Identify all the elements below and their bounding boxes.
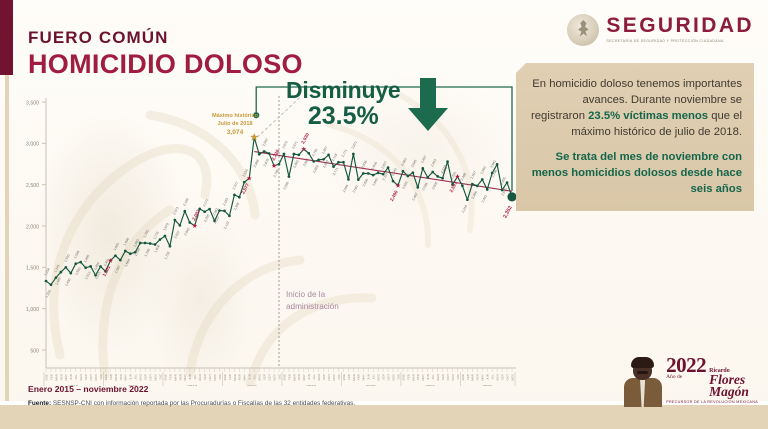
info-highlight-percent: 23.5% víctimas menos bbox=[588, 110, 708, 122]
svg-text:JUN: JUN bbox=[248, 374, 252, 380]
svg-text:2,180: 2,180 bbox=[182, 197, 189, 206]
svg-text:2,205: 2,205 bbox=[203, 214, 210, 223]
ricardo-flores-magon-portrait-icon bbox=[623, 357, 663, 407]
svg-text:1,879: 1,879 bbox=[162, 222, 169, 231]
svg-text:1,641: 1,641 bbox=[113, 242, 120, 251]
svg-text:1,664: 1,664 bbox=[124, 258, 131, 267]
svg-text:3,500: 3,500 bbox=[26, 100, 39, 106]
svg-text:2,507: 2,507 bbox=[470, 170, 477, 179]
svg-text:JUN: JUN bbox=[307, 374, 311, 380]
svg-text:2017: 2017 bbox=[187, 384, 197, 386]
svg-text:FEB: FEB bbox=[287, 374, 291, 380]
svg-text:ABR: ABR bbox=[119, 373, 123, 380]
svg-text:ABR: ABR bbox=[357, 373, 361, 380]
svg-text:FEB: FEB bbox=[168, 374, 172, 380]
svg-text:2,930: 2,930 bbox=[300, 132, 310, 145]
svg-text:DIC: DIC bbox=[158, 373, 162, 379]
svg-text:1,794: 1,794 bbox=[134, 247, 141, 256]
data-labels: 1,3341,2901,3751,4421,5001,4301,5441,563… bbox=[43, 132, 513, 299]
svg-text:2,486: 2,486 bbox=[460, 172, 467, 181]
flores-magon-logo: 2022 Año de Ricardo Flores Magón PRECURS… bbox=[623, 351, 758, 407]
info-paragraph-1: En homicidio doloso tenemos importantes … bbox=[528, 76, 742, 140]
svg-text:1,500: 1,500 bbox=[63, 253, 70, 262]
svg-text:JUN: JUN bbox=[367, 374, 371, 380]
left-accent-bar-maroon bbox=[0, 0, 13, 75]
svg-text:NOV: NOV bbox=[451, 373, 455, 381]
svg-text:DIC: DIC bbox=[277, 373, 281, 379]
svg-text:AGO: AGO bbox=[436, 373, 440, 380]
svg-text:2,718: 2,718 bbox=[331, 153, 338, 162]
svg-text:DIC: DIC bbox=[99, 373, 103, 379]
max-historic-annotation: Máximo histórico Julio de 2018 3,074 bbox=[212, 112, 258, 138]
svg-text:MAR: MAR bbox=[173, 373, 177, 381]
svg-text:ENE: ENE bbox=[104, 374, 108, 380]
svg-text:NOV: NOV bbox=[272, 373, 276, 381]
svg-text:SEP: SEP bbox=[322, 374, 326, 380]
svg-text:AGO: AGO bbox=[377, 373, 381, 380]
svg-text:500: 500 bbox=[30, 348, 39, 354]
svg-text:2,377: 2,377 bbox=[232, 181, 239, 190]
svg-text:2,543: 2,543 bbox=[390, 167, 397, 176]
svg-text:2,467: 2,467 bbox=[411, 192, 418, 201]
svg-text:2,530: 2,530 bbox=[242, 168, 249, 177]
svg-text:ENE: ENE bbox=[342, 374, 346, 380]
svg-text:2,807: 2,807 bbox=[321, 145, 328, 154]
svg-text:OCT: OCT bbox=[208, 374, 212, 381]
svg-text:2,500: 2,500 bbox=[26, 183, 39, 189]
svg-text:MAR: MAR bbox=[233, 373, 237, 381]
seguridad-logo: SEGURIDAD SECRETARÍA DE SEGURIDAD Y PROT… bbox=[567, 14, 754, 46]
svg-text:1,495: 1,495 bbox=[83, 254, 90, 263]
admin-start-line-2: administración bbox=[286, 301, 339, 313]
svg-text:2,577: 2,577 bbox=[240, 182, 250, 195]
chart-container: 5001,0001,5002,0002,5003,0003,500 ENEFEB… bbox=[0, 86, 530, 386]
svg-text:2,860: 2,860 bbox=[322, 159, 329, 168]
svg-text:NOV: NOV bbox=[94, 373, 98, 381]
svg-text:JUL: JUL bbox=[193, 374, 197, 380]
svg-text:2,627: 2,627 bbox=[380, 160, 387, 169]
svg-text:AGO: AGO bbox=[139, 373, 143, 380]
svg-text:ENE: ENE bbox=[223, 374, 227, 380]
svg-text:FEB: FEB bbox=[466, 374, 470, 380]
svg-text:1,500: 1,500 bbox=[26, 266, 39, 272]
svg-text:JUL: JUL bbox=[372, 374, 376, 380]
svg-text:JUN: JUN bbox=[129, 374, 133, 380]
svg-text:2,872: 2,872 bbox=[281, 140, 288, 149]
svg-text:AGO: AGO bbox=[198, 373, 202, 380]
page-title-block: FUERO COMÚN HOMICIDIO DOLOSO bbox=[28, 28, 303, 79]
svg-text:2,564: 2,564 bbox=[342, 184, 349, 193]
svg-text:MAY: MAY bbox=[64, 374, 68, 380]
svg-text:2,871: 2,871 bbox=[291, 140, 298, 149]
svg-text:NOV: NOV bbox=[153, 373, 157, 381]
svg-text:DIC: DIC bbox=[456, 373, 460, 379]
svg-text:SEP: SEP bbox=[144, 374, 148, 380]
svg-text:2,042: 2,042 bbox=[183, 227, 190, 236]
svg-text:ABR: ABR bbox=[178, 373, 182, 380]
svg-text:JUL: JUL bbox=[431, 374, 435, 380]
svg-text:3,000: 3,000 bbox=[26, 142, 39, 148]
svg-text:JUN: JUN bbox=[426, 374, 430, 380]
svg-text:1,788: 1,788 bbox=[144, 248, 151, 257]
svg-text:2,636: 2,636 bbox=[361, 160, 368, 169]
svg-text:1,334: 1,334 bbox=[43, 267, 50, 276]
svg-text:2,728: 2,728 bbox=[271, 148, 281, 161]
max-historic-value: 3,074 bbox=[212, 128, 258, 138]
svg-text:1,000: 1,000 bbox=[26, 307, 39, 313]
svg-text:2019: 2019 bbox=[306, 384, 316, 386]
svg-text:2,073: 2,073 bbox=[172, 206, 179, 215]
svg-text:2,600: 2,600 bbox=[431, 181, 438, 190]
svg-text:2,860: 2,860 bbox=[292, 159, 299, 168]
svg-text:1,587: 1,587 bbox=[114, 265, 121, 274]
svg-text:2,800: 2,800 bbox=[312, 164, 319, 173]
svg-text:FEB: FEB bbox=[406, 374, 410, 380]
svg-text:NOV: NOV bbox=[391, 373, 395, 381]
svg-text:SEP: SEP bbox=[382, 374, 386, 380]
svg-text:2,645: 2,645 bbox=[410, 159, 417, 168]
svg-text:1,563: 1,563 bbox=[74, 267, 81, 276]
svg-text:1,698: 1,698 bbox=[123, 237, 130, 246]
admin-start-line-1: Inicio de la bbox=[286, 289, 339, 301]
svg-text:2,441: 2,441 bbox=[481, 194, 488, 203]
svg-text:2,902: 2,902 bbox=[261, 138, 268, 147]
svg-text:2,697: 2,697 bbox=[420, 155, 427, 164]
svg-text:1,512: 1,512 bbox=[84, 271, 91, 280]
svg-text:DIC: DIC bbox=[218, 373, 222, 379]
svg-text:SEP: SEP bbox=[441, 374, 445, 380]
info-panel: En homicidio doloso tenemos importantes … bbox=[516, 63, 754, 211]
svg-text:SEP: SEP bbox=[203, 374, 207, 380]
svg-text:2,172: 2,172 bbox=[202, 198, 209, 207]
svg-text:OCT: OCT bbox=[446, 374, 450, 381]
svg-text:OCT: OCT bbox=[505, 374, 509, 381]
svg-text:ENE: ENE bbox=[282, 374, 286, 380]
svg-text:NOV: NOV bbox=[332, 373, 336, 381]
svg-text:OCT: OCT bbox=[267, 374, 271, 381]
svg-text:ABR: ABR bbox=[297, 373, 301, 380]
svg-text:MAY: MAY bbox=[421, 374, 425, 380]
svg-text:1,776: 1,776 bbox=[152, 231, 159, 240]
source-text: SESNSP-CNI con información reportada por… bbox=[51, 400, 355, 407]
svg-text:MAY: MAY bbox=[362, 374, 366, 380]
period-label: Enero 2015 – noviembre 2022 bbox=[28, 384, 148, 394]
svg-text:1,581: 1,581 bbox=[102, 264, 112, 277]
svg-text:2020: 2020 bbox=[366, 384, 376, 386]
svg-text:2,183: 2,183 bbox=[222, 197, 229, 206]
svg-text:NOV: NOV bbox=[213, 373, 217, 381]
svg-text:FEB: FEB bbox=[109, 374, 113, 380]
svg-text:OCT: OCT bbox=[149, 374, 153, 381]
svg-text:2,348: 2,348 bbox=[233, 202, 240, 211]
title-kicker: FUERO COMÚN bbox=[28, 28, 303, 48]
svg-text:2,007: 2,007 bbox=[173, 230, 180, 239]
callout-word: Disminuye bbox=[286, 77, 401, 104]
svg-text:SEP: SEP bbox=[263, 374, 267, 380]
svg-text:JUL: JUL bbox=[312, 374, 316, 380]
svg-text:MAR: MAR bbox=[54, 373, 58, 381]
flores-magon-text: 2022 Año de Ricardo Flores Magón PRECURS… bbox=[666, 355, 758, 407]
svg-text:1,795: 1,795 bbox=[143, 229, 150, 238]
bottom-strip-tan bbox=[0, 405, 768, 429]
svg-text:2,643: 2,643 bbox=[372, 177, 379, 186]
svg-text:JUL: JUL bbox=[253, 374, 257, 380]
svg-text:OCT: OCT bbox=[386, 374, 390, 381]
svg-text:1,430: 1,430 bbox=[64, 278, 71, 287]
svg-text:2,490: 2,490 bbox=[389, 189, 399, 202]
svg-text:AGO: AGO bbox=[79, 373, 83, 380]
svg-text:MAY: MAY bbox=[302, 374, 306, 380]
down-arrow-icon bbox=[407, 78, 449, 132]
svg-text:2,653: 2,653 bbox=[430, 158, 437, 167]
svg-text:2,746: 2,746 bbox=[491, 169, 498, 178]
mexican-eagle-seal-icon bbox=[567, 14, 599, 46]
decrease-callout: Disminuye 23.5% bbox=[286, 76, 449, 132]
svg-text:2,000: 2,000 bbox=[26, 224, 39, 230]
svg-text:MAY: MAY bbox=[481, 374, 485, 380]
source-label: Fuente: bbox=[28, 400, 51, 407]
svg-text:2,781: 2,781 bbox=[311, 148, 318, 157]
svg-text:2,663: 2,663 bbox=[400, 157, 407, 166]
svg-text:2,563: 2,563 bbox=[480, 166, 487, 175]
svg-text:SEP: SEP bbox=[84, 374, 88, 380]
svg-text:2,771: 2,771 bbox=[341, 148, 348, 157]
callout-percent: 23.5% bbox=[286, 102, 401, 131]
homicide-line-chart: 5001,0001,5002,0002,5003,0003,500 ENEFEB… bbox=[0, 86, 530, 386]
svg-text:FEB: FEB bbox=[347, 374, 351, 380]
svg-text:MAY: MAY bbox=[124, 374, 128, 380]
svg-text:MAR: MAR bbox=[292, 373, 296, 381]
svg-text:AGO: AGO bbox=[258, 373, 262, 380]
source-line: Fuente: SESNSP-CNI con información repor… bbox=[28, 400, 355, 407]
svg-text:2,771: 2,771 bbox=[332, 167, 339, 176]
svg-text:2018: 2018 bbox=[247, 384, 257, 386]
logo-tagline: PRECURSOR DE LA REVOLUCIÓN MEXICANA bbox=[666, 401, 758, 405]
svg-text:ABR: ABR bbox=[476, 373, 480, 380]
svg-text:2,598: 2,598 bbox=[282, 181, 289, 190]
svg-text:JUL: JUL bbox=[134, 374, 138, 380]
svg-text:MAR: MAR bbox=[471, 373, 475, 381]
logo-subtitle: SECRETARÍA DE SEGURIDAD Y PROTECCIÓN CIU… bbox=[606, 39, 754, 44]
info-paragraph-2: Se trata del mes de noviembre con menos … bbox=[528, 149, 742, 197]
svg-text:2,868: 2,868 bbox=[253, 159, 260, 168]
svg-text:2,122: 2,122 bbox=[223, 220, 230, 229]
svg-text:2021: 2021 bbox=[425, 384, 435, 386]
svg-text:AGO: AGO bbox=[317, 373, 321, 380]
svg-text:NOV: NOV bbox=[510, 373, 514, 381]
max-historic-line-2: Julio de 2018 bbox=[212, 120, 258, 128]
svg-text:1,544: 1,544 bbox=[73, 250, 80, 259]
svg-text:2,616: 2,616 bbox=[371, 161, 378, 170]
svg-text:SEP: SEP bbox=[500, 374, 504, 380]
svg-text:2,486: 2,486 bbox=[471, 190, 478, 199]
svg-text:MAY: MAY bbox=[183, 374, 187, 380]
svg-text:DIC: DIC bbox=[396, 373, 400, 379]
svg-text:OCT: OCT bbox=[327, 374, 331, 381]
svg-text:ENE: ENE bbox=[163, 374, 167, 380]
svg-text:2,062: 2,062 bbox=[212, 207, 219, 216]
svg-text:JUN: JUN bbox=[69, 374, 73, 380]
logo-title: SEGURIDAD bbox=[606, 15, 754, 36]
svg-text:MAR: MAR bbox=[352, 373, 356, 381]
max-historic-line-1: Máximo histórico bbox=[212, 112, 258, 120]
page-title: HOMICIDIO DOLOSO bbox=[28, 49, 303, 79]
svg-text:DIC: DIC bbox=[337, 373, 341, 379]
svg-text:2,636: 2,636 bbox=[362, 178, 369, 187]
svg-text:AGO: AGO bbox=[496, 373, 500, 380]
svg-text:2,871: 2,871 bbox=[351, 140, 358, 149]
svg-text:ABR: ABR bbox=[59, 373, 63, 380]
svg-text:2022: 2022 bbox=[482, 384, 492, 386]
svg-text:FEB: FEB bbox=[49, 374, 53, 380]
year-2022: 2022 bbox=[666, 355, 706, 376]
svg-text:MAR: MAR bbox=[114, 373, 118, 381]
svg-text:ABR: ABR bbox=[238, 373, 242, 380]
svg-text:2,588: 2,588 bbox=[421, 182, 428, 191]
svg-text:2,561: 2,561 bbox=[352, 184, 359, 193]
svg-text:2,878: 2,878 bbox=[263, 158, 270, 167]
svg-text:ENE: ENE bbox=[401, 374, 405, 380]
svg-text:ENE: ENE bbox=[461, 374, 465, 380]
logo-text: SEGURIDAD SECRETARÍA DE SEGURIDAD Y PROT… bbox=[606, 15, 754, 44]
svg-text:MAY: MAY bbox=[243, 374, 247, 380]
y-axis: 5001,0001,5002,0002,5003,0003,500 bbox=[26, 98, 46, 368]
svg-text:OCT: OCT bbox=[89, 374, 93, 381]
svg-text:2,605: 2,605 bbox=[401, 180, 408, 189]
last-name-2: Magón bbox=[709, 386, 749, 399]
svg-text:JUN: JUN bbox=[188, 374, 192, 380]
svg-text:2,318: 2,318 bbox=[461, 204, 468, 213]
admin-start-annotation: Inicio de la administración bbox=[286, 289, 339, 314]
svg-text:JUN: JUN bbox=[486, 374, 490, 380]
svg-text:JUL: JUL bbox=[74, 374, 78, 380]
svg-text:1,755: 1,755 bbox=[163, 251, 170, 260]
svg-text:ABR: ABR bbox=[416, 373, 420, 380]
svg-text:ENE: ENE bbox=[44, 374, 48, 380]
svg-text:FEB: FEB bbox=[228, 374, 232, 380]
svg-text:2,352: 2,352 bbox=[502, 205, 513, 219]
series-line bbox=[46, 137, 512, 284]
svg-text:MAR: MAR bbox=[411, 373, 415, 381]
svg-text:JUL: JUL bbox=[491, 374, 495, 380]
